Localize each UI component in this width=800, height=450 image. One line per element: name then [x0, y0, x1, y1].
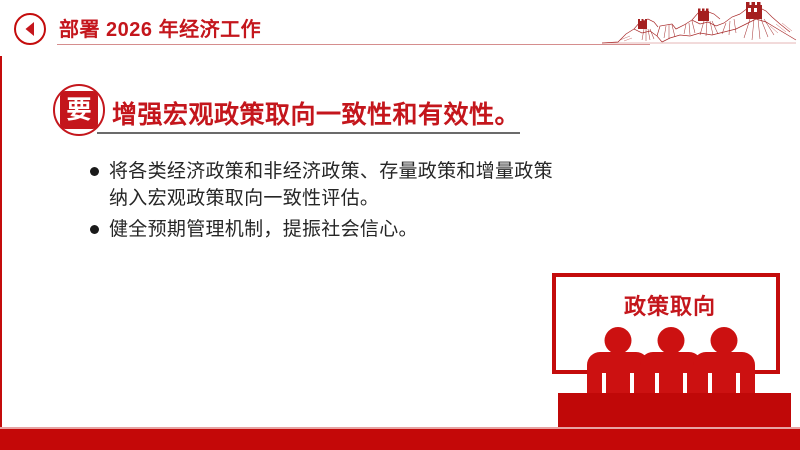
- back-button[interactable]: [14, 13, 46, 45]
- bullet-list: 将各类经济政策和非经济政策、存量政策和增量政策纳入宏观政策取向一致性评估。 健全…: [88, 158, 558, 247]
- page-title: 部署 2026 年经济工作: [59, 13, 261, 42]
- person-head: [711, 327, 738, 354]
- section-underline: [97, 132, 520, 134]
- list-item-text: 健全预期管理机制，提振社会信心。: [109, 219, 418, 240]
- list-item-text: 将各类经济政策和非经济政策、存量政策和增量政策纳入宏观政策取向一致性评估。: [109, 161, 553, 209]
- section-heading-row: 要 增强宏观政策取向一致性和有效性。: [0, 84, 800, 138]
- section-badge: 要: [53, 84, 105, 136]
- section-badge-label: 要: [60, 91, 98, 129]
- person-icon: [693, 327, 755, 395]
- great-wall-illustration: [600, 2, 800, 54]
- list-item: 健全预期管理机制，提振社会信心。: [88, 216, 558, 243]
- policy-illustration: 政策取向: [551, 272, 791, 450]
- list-item: 将各类经济政策和非经济政策、存量政策和增量政策纳入宏观政策取向一致性评估。: [88, 158, 558, 212]
- illustration-people-group: [551, 327, 791, 397]
- person-head: [658, 327, 685, 354]
- section-title: 增强宏观政策取向一致性和有效性。: [112, 95, 520, 131]
- header-divider: [57, 44, 650, 45]
- person-head: [605, 327, 632, 354]
- bullet-dot-icon: [90, 225, 99, 234]
- slide-canvas: 部署 2026 年经济工作: [0, 0, 800, 450]
- illustration-screen-label: 政策取向: [556, 289, 784, 321]
- slide-header: 部署 2026 年经济工作: [0, 0, 800, 56]
- bullet-dot-icon: [90, 167, 99, 176]
- person-body: [693, 352, 755, 396]
- bottom-bar: [0, 429, 800, 450]
- chevron-left-icon: [21, 20, 39, 38]
